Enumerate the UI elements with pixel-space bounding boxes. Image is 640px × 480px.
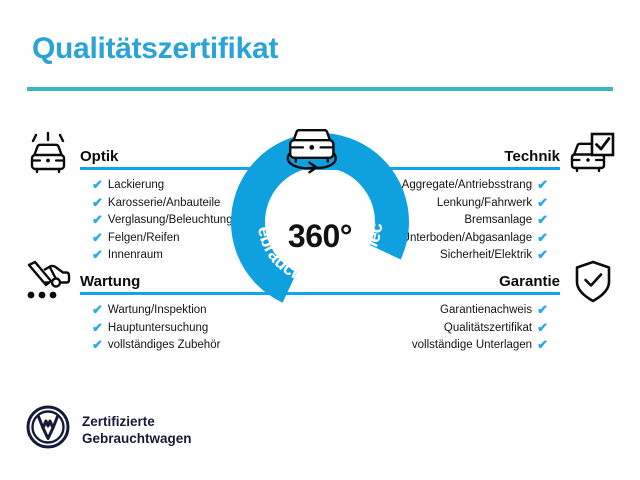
volkswagen-logo-icon <box>26 405 70 454</box>
badge-degrees-label: 360° <box>225 218 415 255</box>
list-item: Qualitätszertifikat✔ <box>260 320 548 338</box>
section-title: Optik <box>80 148 118 165</box>
car-front-checkbox-icon <box>566 130 616 183</box>
check-icon: ✔ <box>92 321 103 334</box>
check-icon: ✔ <box>537 178 548 191</box>
check-icon: ✔ <box>537 248 548 261</box>
wrench-car-service-icon <box>20 258 74 311</box>
360-check-badge: Gebrauchtwagen-Check 360° <box>225 115 415 310</box>
item-label: Lenkung/Fahrwerk <box>437 195 532 213</box>
item-label: Verglasung/Beleuchtung <box>108 212 233 230</box>
item-label: Qualitätszertifikat <box>444 320 532 338</box>
item-label: vollständiges Zubehör <box>108 337 221 355</box>
check-icon: ✔ <box>537 213 548 226</box>
list-item: vollständige Unterlagen✔ <box>260 337 548 355</box>
section-title: Technik <box>504 148 560 165</box>
check-icon: ✔ <box>537 231 548 244</box>
check-icon: ✔ <box>92 196 103 209</box>
qualitaetszertifikat-page: Qualitätszertifikat <box>0 0 640 480</box>
check-icon: ✔ <box>537 321 548 334</box>
check-icon: ✔ <box>537 196 548 209</box>
check-icon: ✔ <box>537 338 548 351</box>
footer-brand: Zertifizierte Gebrauchtwagen <box>26 405 192 454</box>
header-divider <box>27 87 613 91</box>
item-label: Lackierung <box>108 177 164 195</box>
item-label: Garantienachweis <box>440 302 532 320</box>
shield-check-icon <box>572 258 614 311</box>
item-label: vollständige Unterlagen <box>412 337 532 355</box>
check-icon: ✔ <box>92 178 103 191</box>
item-label: Karosserie/Anbauteile <box>108 195 221 213</box>
brand-label: Zertifizierte Gebrauchtwagen <box>82 413 192 447</box>
item-label: Hauptuntersuchung <box>108 320 208 338</box>
item-label: Aggregate/Antriebsstrang <box>402 177 532 195</box>
item-label: Sicherheit/Elektrik <box>440 247 532 265</box>
car-front-shine-icon <box>24 130 72 183</box>
item-label: Innenraum <box>108 247 163 265</box>
check-icon: ✔ <box>92 231 103 244</box>
item-label: Wartung/Inspektion <box>108 302 207 320</box>
page-title: Qualitätszertifikat <box>32 32 278 66</box>
check-icon: ✔ <box>92 213 103 226</box>
item-label: Bremsanlage <box>464 212 532 230</box>
check-icon: ✔ <box>92 248 103 261</box>
check-icon: ✔ <box>92 303 103 316</box>
check-icon: ✔ <box>537 303 548 316</box>
item-label: Unterboden/Abgasanlage <box>402 230 532 248</box>
section-title: Garantie <box>499 273 560 290</box>
item-label: Felgen/Reifen <box>108 230 180 248</box>
section-title: Wartung <box>80 273 140 290</box>
check-icon: ✔ <box>92 338 103 351</box>
